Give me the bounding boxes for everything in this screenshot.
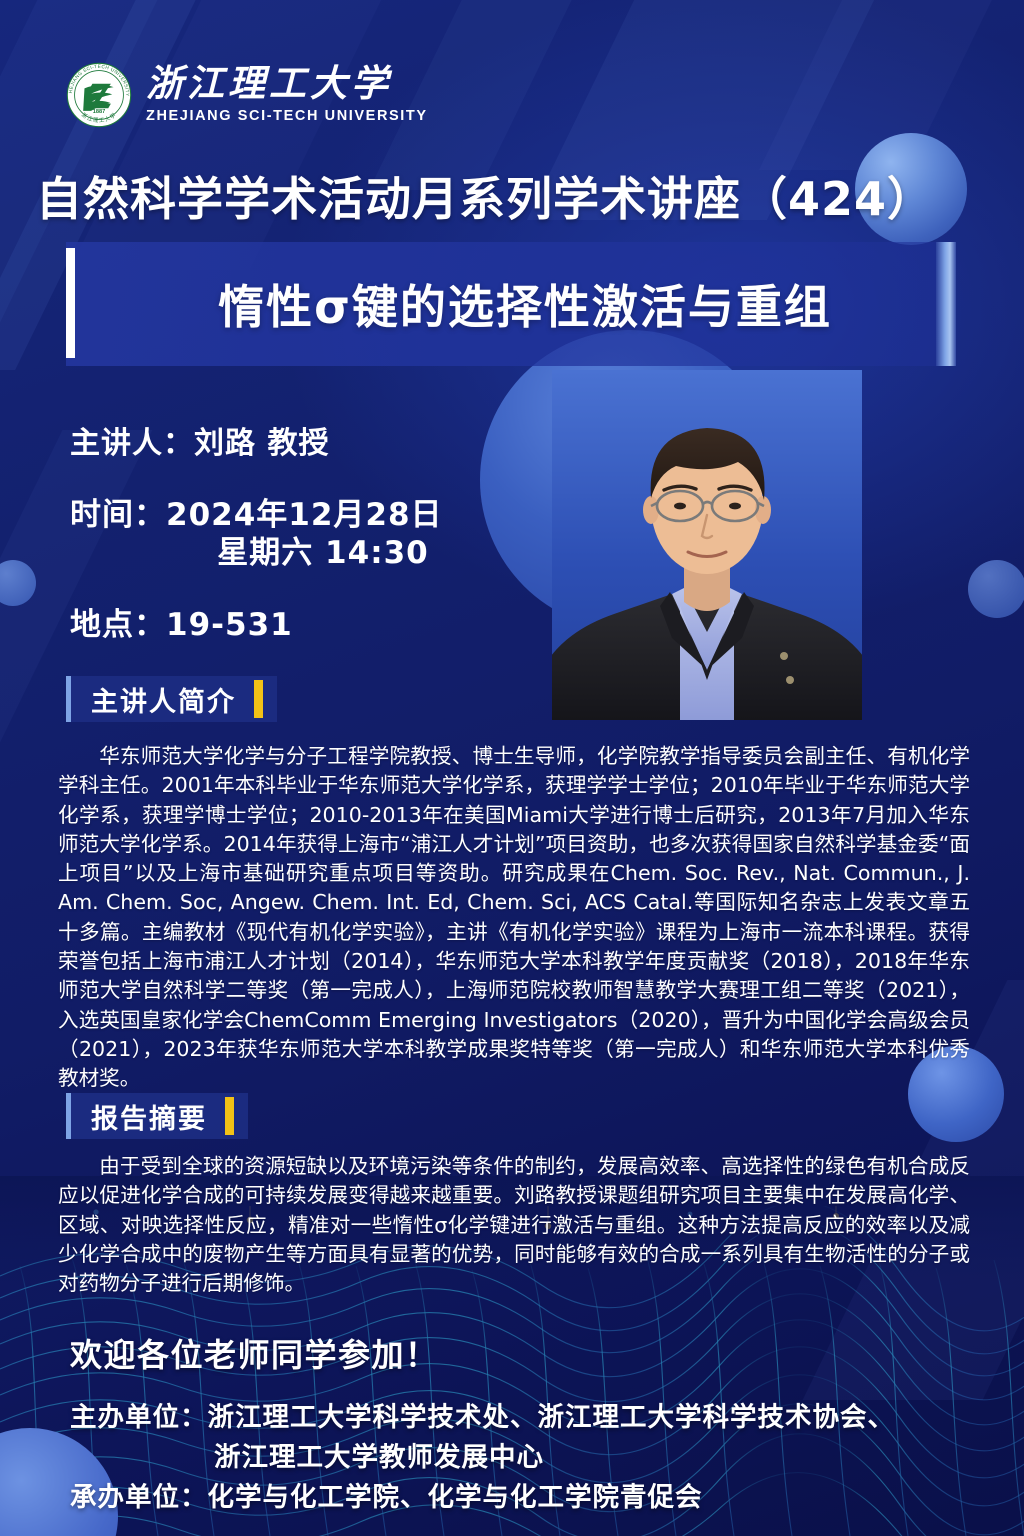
abstract-text: 由于受到全球的资源短缺以及环境污染等条件的制约，发展高效率、高选择性的绿色有机合… bbox=[58, 1152, 970, 1298]
university-logo-row: 1887 ZHEJIANG SCI-TECH UNIVERSITY 浙江理工大学… bbox=[66, 62, 428, 128]
place-line: 地点：19-531 bbox=[70, 606, 540, 645]
banner-left-accent-bar bbox=[66, 248, 75, 358]
speaker-line: 主讲人：刘路 教授 bbox=[70, 425, 540, 463]
banner-right-accent-bar bbox=[936, 242, 956, 366]
place-label: 地点： bbox=[70, 607, 166, 643]
bio-text: 华东师范大学化学与分子工程学院教授、博士生导师，化学院教学指导委员会副主任、有机… bbox=[58, 742, 970, 1094]
host-label: 承办单位： bbox=[70, 1482, 208, 1513]
section-title-bio: 主讲人简介 bbox=[91, 680, 236, 719]
university-emblem-icon: 1887 ZHEJIANG SCI-TECH UNIVERSITY 浙江理工大学 bbox=[66, 62, 132, 128]
section-header-abstract: 报告摘要 bbox=[66, 1093, 248, 1139]
section-title-abstract: 报告摘要 bbox=[91, 1097, 207, 1136]
lecture-title: 惰性σ键的选择性激活与重组 bbox=[190, 271, 832, 337]
organizer-line-2: 浙江理工大学教师发展中心 bbox=[70, 1438, 1010, 1478]
university-name-cn: 浙江理工大学 bbox=[146, 66, 428, 105]
organizer-line-1: 主办单位：浙江理工大学科学技术处、浙江理工大学科学技术协会、 bbox=[70, 1398, 1010, 1438]
speaker-name: 刘路 教授 bbox=[194, 426, 329, 461]
poster-root: 1887 ZHEJIANG SCI-TECH UNIVERSITY 浙江理工大学… bbox=[0, 0, 1024, 1536]
speaker-label: 主讲人： bbox=[70, 426, 194, 461]
series-title: 自然科学学术活动月系列学术讲座（424） bbox=[36, 163, 996, 229]
section-header-bio: 主讲人简介 bbox=[66, 676, 277, 722]
host-names: 化学与化工学院、化学与化工学院青促会 bbox=[208, 1482, 703, 1513]
speaker-photo bbox=[552, 370, 862, 720]
organizer-names-1: 浙江理工大学科学技术处、浙江理工大学科学技术协会、 bbox=[208, 1402, 896, 1433]
organizer-block: 主办单位：浙江理工大学科学技术处、浙江理工大学科学技术协会、 浙江理工大学教师发… bbox=[70, 1398, 1010, 1518]
svg-text:1887: 1887 bbox=[93, 109, 105, 115]
time-label: 时间： bbox=[70, 497, 166, 533]
section-header-body: 报告摘要 bbox=[71, 1093, 248, 1139]
section-gold-bar-icon bbox=[254, 680, 263, 718]
host-line: 承办单位：化学与化工学院、化学与化工学院青促会 bbox=[70, 1478, 1010, 1518]
time-line: 时间：2024年12月28日 bbox=[70, 496, 540, 535]
time-line-secondary: 星期六 14:30 bbox=[70, 534, 540, 573]
time-value: 2024年12月28日 bbox=[166, 497, 443, 533]
abstract-paragraph: 由于受到全球的资源短缺以及环境污染等条件的制约，发展高效率、高选择性的绿色有机合… bbox=[58, 1152, 970, 1298]
bio-paragraph: 华东师范大学化学与分子工程学院教授、博士生导师，化学院教学指导委员会副主任、有机… bbox=[58, 742, 970, 1094]
place-value: 19-531 bbox=[166, 607, 293, 643]
organizer-label: 主办单位： bbox=[70, 1402, 208, 1433]
lecture-title-banner: 惰性σ键的选择性激活与重组 bbox=[66, 242, 956, 366]
section-gold-bar-icon bbox=[225, 1097, 234, 1135]
event-meta: 主讲人：刘路 教授 时间：2024年12月28日 星期六 14:30 地点：19… bbox=[70, 425, 540, 645]
section-header-body: 主讲人简介 bbox=[71, 676, 277, 722]
welcome-message: 欢迎各位老师同学参加！ bbox=[70, 1330, 439, 1376]
university-name-en: ZHEJIANG SCI-TECH UNIVERSITY bbox=[146, 108, 428, 124]
decorative-sphere bbox=[968, 560, 1024, 618]
